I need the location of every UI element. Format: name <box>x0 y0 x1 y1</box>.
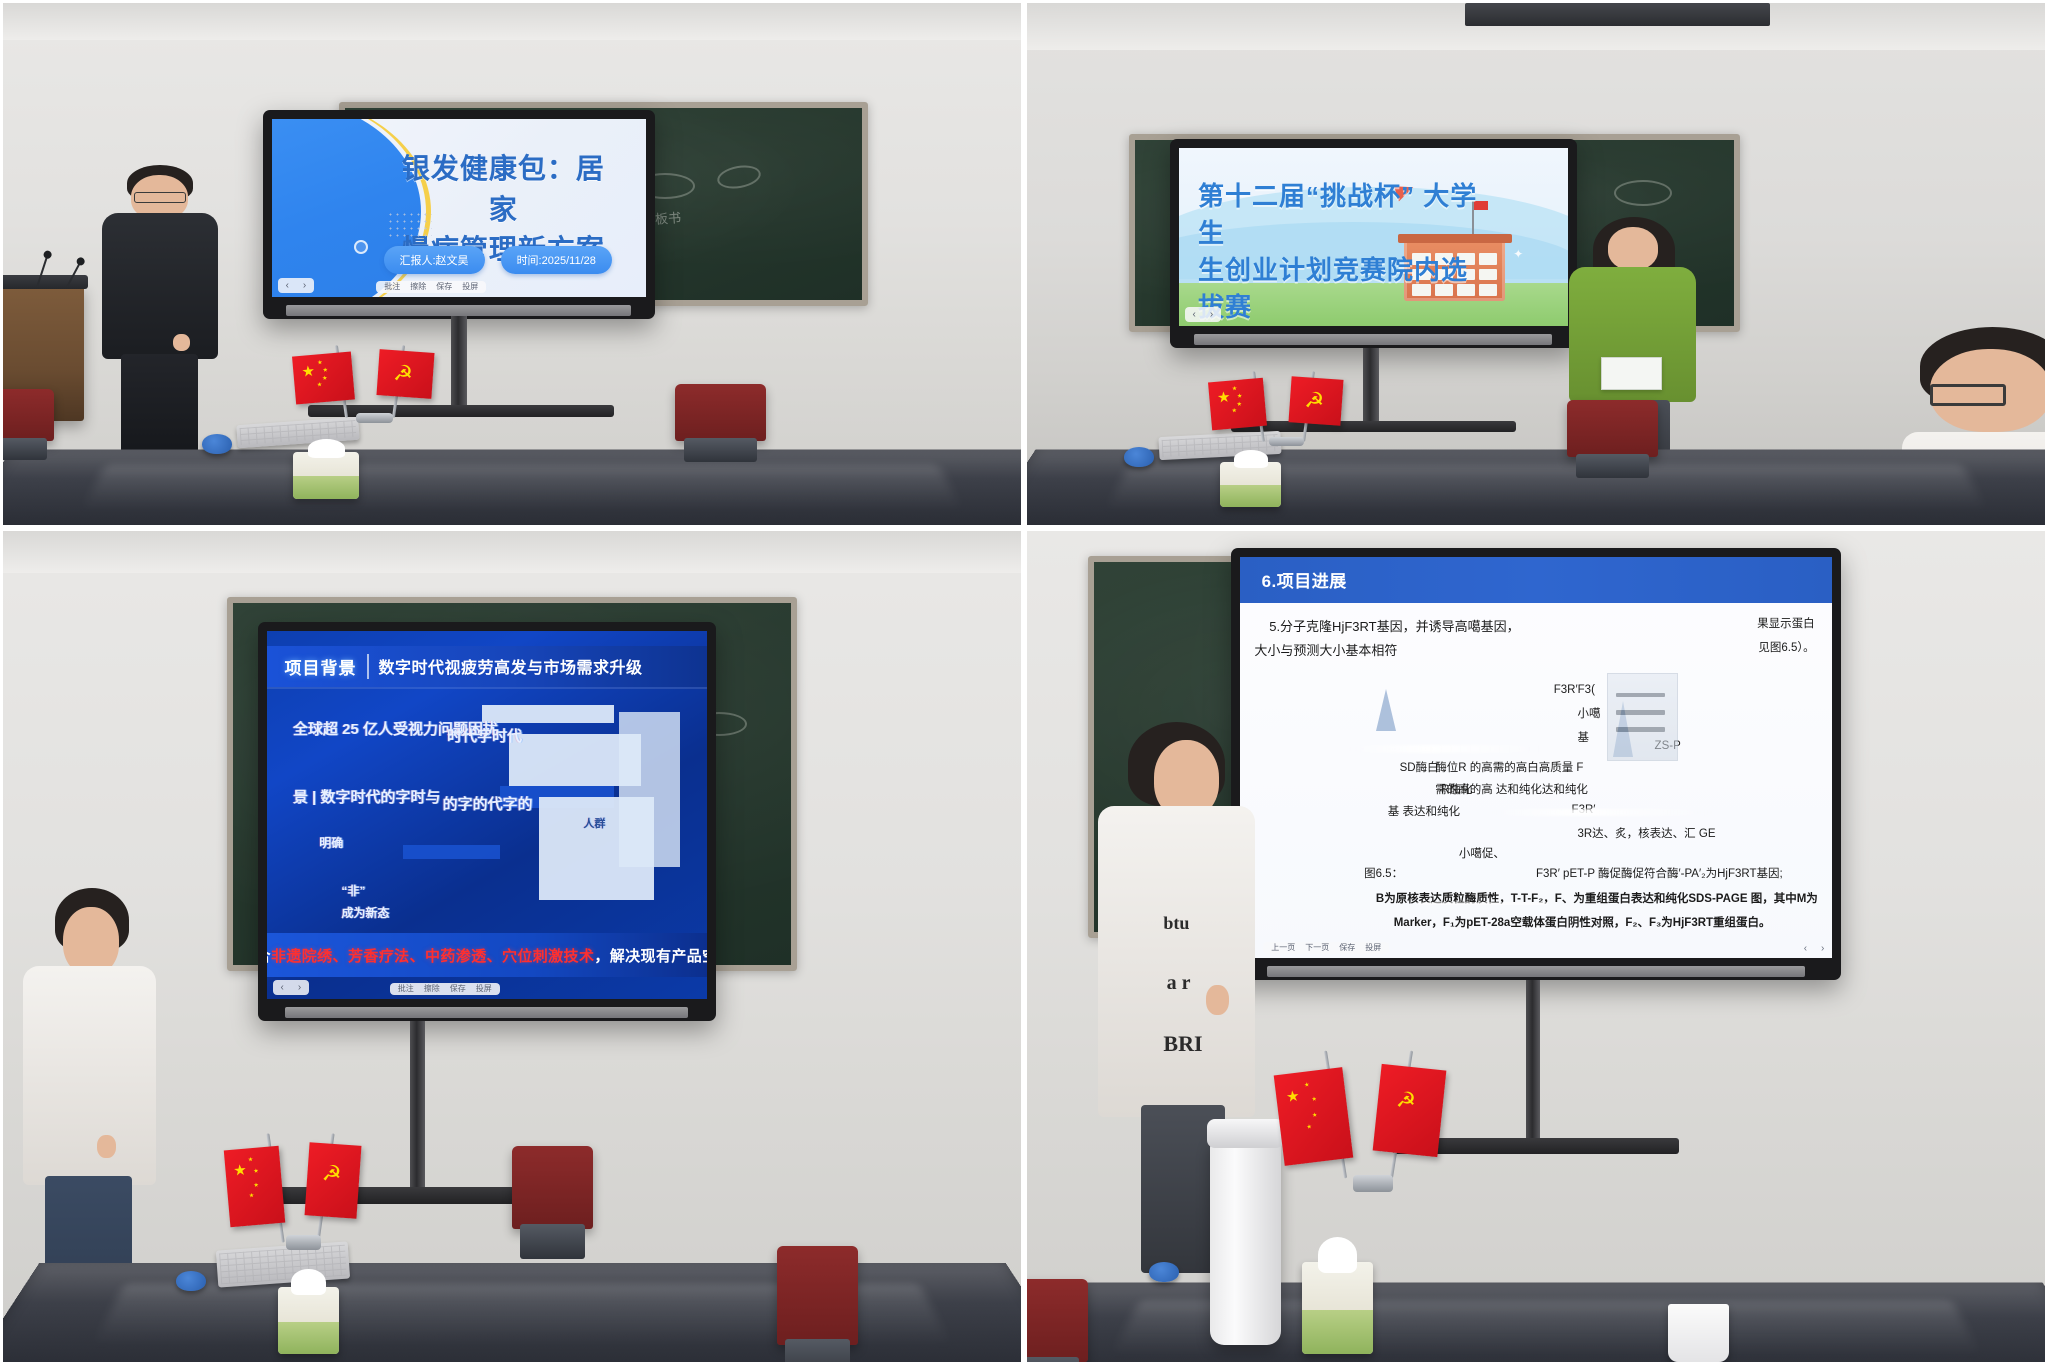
star-small-1-icon: ★ <box>1232 386 1238 392</box>
star-large-icon: ★ <box>233 1162 248 1178</box>
slide-circle-accent <box>354 240 368 254</box>
desk-flags-1: ★ ★ ★ ★ ★ ☭ <box>283 342 466 457</box>
conference-table-4 <box>1024 1282 2048 1365</box>
slide-4-fragment-sd: SD酶白 <box>1400 759 1439 777</box>
slide-3-divider <box>367 654 369 679</box>
interactive-whiteboard-2[interactable]: ✦ ✦ 第十二届“挑战杯” 大学生 生创业计划竞赛院内选拔赛 <box>1170 139 1577 348</box>
star-small-2-icon: ★ <box>1237 393 1243 399</box>
slide-4-float-right-1: 果显示蛋白 <box>1757 615 1815 633</box>
flag-national-2: ★ ★ ★ ★ ★ <box>1208 378 1267 431</box>
mouse-1[interactable] <box>202 434 232 454</box>
slide-3-topbar: 项目背景 数字时代视疲劳高发与市场需求升级 <box>267 646 707 686</box>
slide-4-caption-line-2: Marker，F₁为pET-28a空载体蛋白阴性对照，F₂、F₃为HjF3RT重… <box>1394 914 1821 932</box>
slide-4-paragraph-2: 大小与预测大小基本相符 <box>1254 641 1622 662</box>
slide-3-glitch-line-2b: 的字的代字的 <box>443 793 533 814</box>
eraser-tool-icon[interactable]: 擦除 <box>424 985 440 993</box>
hand-holding-clicker-3 <box>97 1135 116 1158</box>
star-small-3-icon: ★ <box>253 1183 259 1189</box>
slide-challenge-cup: ✦ ✦ 第十二届“挑战杯” 大学生 生创业计划竞赛院内选拔赛 <box>1179 148 1568 326</box>
tissue-box-band-4 <box>1302 1310 1373 1354</box>
prev-page-icon[interactable]: ‹ <box>1804 943 1807 954</box>
prev-page-icon[interactable]: ‹ <box>1193 309 1196 320</box>
whiteboard-stand-pole-4 <box>1526 980 1540 1146</box>
mouse-3[interactable] <box>176 1271 206 1291</box>
cast-tool-icon[interactable]: 投屏 <box>462 283 478 291</box>
glitch-tear-6 <box>619 712 681 867</box>
slide-silver-health: 银发健康包：居家 慢病管理新方案 汇报人:赵文昊 时间:2025/11/28 <box>272 119 646 297</box>
star-small-2-icon: ★ <box>322 367 328 373</box>
ceiling-rail <box>1465 3 1770 26</box>
whiteboard-chin-2 <box>1194 334 1552 345</box>
bottom-suffix: ，解决现有产品空白 <box>594 948 706 965</box>
flag-national-4: ★ ★ ★ ★ ★ <box>1274 1067 1354 1166</box>
slide-3-glitch-line-4: “非” <box>341 882 365 899</box>
pen-tool-icon[interactable]: 批注 <box>384 283 400 291</box>
mouse-2[interactable] <box>1124 447 1154 467</box>
star-small-2-icon: ★ <box>1312 1096 1318 1103</box>
slide-3-headline: 数字时代视疲劳高发与市场需求升级 <box>379 654 643 678</box>
desk-flags-2: ★ ★ ★ ★ ★ ☭ <box>1200 368 1373 483</box>
screen-page-arrows-4[interactable]: ‹ › <box>1804 943 1825 954</box>
conference-table-3 <box>0 1263 1024 1365</box>
star-small-1-icon: ★ <box>1304 1082 1310 1089</box>
star-small-1-icon: ★ <box>248 1157 254 1163</box>
head-2 <box>1608 227 1658 270</box>
slide-4-fragment-f3r: F3R′F3( <box>1554 681 1595 699</box>
slide-4-fragment-line-5: 3R达、炙，核表达、汇 GE <box>1577 825 1715 843</box>
podium-top <box>0 275 88 289</box>
slide-4-fragment-line-6: 小噶促、 <box>1459 845 1505 863</box>
star-small-2-icon: ★ <box>253 1169 259 1175</box>
ceiling-strip-3 <box>3 531 1021 573</box>
save-tool-icon[interactable]: 保存 <box>450 985 466 993</box>
glasses-icon <box>134 192 185 203</box>
ceiling-strip <box>3 3 1021 40</box>
chair-right-1 <box>675 384 767 441</box>
whiteboard-chin-3 <box>285 1007 688 1018</box>
next-page-label[interactable]: 下一页 <box>1305 944 1329 952</box>
star-small-4-icon: ★ <box>249 1192 255 1198</box>
prev-page-label[interactable]: 上一页 <box>1271 944 1295 952</box>
sparkle-1-icon: ✦ <box>1513 247 1523 261</box>
photo-panel-bottom-right: 6.项目进展 5.分子克隆HjF3RT基因，并诱导高噶基因， 大小与预测大小基本… <box>1024 528 2048 1365</box>
sweater-text-1: btu <box>1163 914 1189 932</box>
interactive-whiteboard-1[interactable]: 银发健康包：居家 慢病管理新方案 汇报人:赵文昊 时间:2025/11/28 ‹… <box>263 110 655 319</box>
whiteboard-stand-pole-3 <box>410 1021 425 1196</box>
chair-left-4 <box>1024 1279 1088 1362</box>
star-small-3-icon: ★ <box>1237 402 1243 408</box>
slide-4-fragment-line-3: 基 表达和纯化 <box>1388 803 1460 821</box>
paper-cup <box>1668 1304 1729 1362</box>
chair-right-3 <box>512 1146 593 1229</box>
flag-party-4: ☭ <box>1373 1064 1447 1158</box>
next-page-icon[interactable]: › <box>303 280 306 291</box>
tissue-box-band-3 <box>278 1322 339 1354</box>
hammer-sickle-icon: ☭ <box>1304 389 1325 412</box>
star-small-1-icon: ★ <box>317 360 323 366</box>
flag-party-2: ☭ <box>1288 376 1343 425</box>
date-pill: 时间:2025/11/28 <box>501 246 612 274</box>
pen-tool-icon[interactable]: 批注 <box>398 985 414 993</box>
slide-4-fragment-line-2: 需的高的高 达和纯化达和纯化 <box>1435 781 1814 799</box>
star-small-3-icon: ★ <box>1312 1113 1318 1120</box>
slide-screen-1[interactable]: 银发健康包：居家 慢病管理新方案 汇报人:赵文昊 时间:2025/11/28 ‹… <box>272 119 646 297</box>
flag-national: ★ ★ ★ ★ ★ <box>292 351 355 404</box>
screen-glitch-scratch <box>1417 902 1547 905</box>
chromatogram-peak-1 <box>1376 689 1396 731</box>
torso-white-hoodie <box>23 966 155 1185</box>
slide-3-glitch-line-1b: 时代字时代 <box>447 725 522 746</box>
slide-title-2: 第十二届“挑战杯” 大学生 生创业计划竞赛院内选拔赛 <box>1198 178 1478 326</box>
star-large-icon: ★ <box>1286 1089 1301 1106</box>
slide-meta-pills: 汇报人:赵文昊 时间:2025/11/28 <box>384 246 612 274</box>
next-page-icon[interactable]: › <box>1821 943 1824 954</box>
hand-gesture-4 <box>1206 985 1229 1015</box>
sweater-text-3: BRI <box>1163 1033 1202 1055</box>
slide-3-bottom-line: 融合非遗院绣、芳香疗法、中药渗透、穴位刺激技术，解决现有产品空白 <box>267 945 707 966</box>
tissue-box-4 <box>1302 1262 1373 1353</box>
hand-holding-clicker <box>173 334 190 351</box>
slide-dot-pattern <box>387 211 432 239</box>
slide-title-2-line-1: 第十二届“挑战杯” 大学生 <box>1198 178 1478 252</box>
slide-screen-3[interactable]: 项目背景 数字时代视疲劳高发与市场需求升级 全球超 25 亿人受视力问题困扰 时… <box>267 631 707 999</box>
glitch-tear-5 <box>403 845 500 860</box>
slide-3-bottombar: 融合非遗院绣、芳香疗法、中药渗透、穴位刺激技术，解决现有产品空白 <box>267 933 707 977</box>
conference-table-2 <box>1024 450 2048 528</box>
slide-project-progress: 6.项目进展 5.分子克隆HjF3RT基因，并诱导高噶基因， 大小与预测大小基本… <box>1240 557 1833 958</box>
screen-glitch-smear-2 <box>1489 809 1714 816</box>
slide-4-fragment-small: 小噶 <box>1577 705 1600 723</box>
slide-4-fragment-base: 基 <box>1577 729 1589 747</box>
sweater-text-2: a r <box>1167 973 1191 993</box>
glitch-tear-1 <box>482 705 614 723</box>
slide-screen-4[interactable]: 6.项目进展 5.分子克隆HjF3RT基因，并诱导高噶基因， 大小与预测大小基本… <box>1240 557 1833 958</box>
save-tool-icon[interactable]: 保存 <box>1339 944 1355 952</box>
speech-card <box>1601 357 1662 390</box>
interactive-whiteboard-3[interactable]: 项目背景 数字时代视疲劳高发与市场需求升级 全球超 25 亿人受视力问题困扰 时… <box>258 622 716 1021</box>
slide-4-caption-prefix: 图6.5： <box>1364 865 1403 883</box>
star-small-4-icon: ★ <box>1232 408 1238 414</box>
star-large-icon: ★ <box>301 363 316 379</box>
flag-party: ☭ <box>377 350 435 400</box>
slide-3-glitch-line-2: 景 | 数字时代的字时与 <box>293 786 441 807</box>
star-small-4-icon: ★ <box>317 382 323 388</box>
slide-3-tag: 项目背景 <box>267 654 365 679</box>
next-page-icon[interactable]: › <box>298 982 301 993</box>
slide-4-fragment-line-1: 酶位R 的高需的高白高质量 F <box>1435 759 1814 777</box>
audience-glasses-icon <box>1930 384 2006 406</box>
interactive-whiteboard-4[interactable]: 6.项目进展 5.分子克隆HjF3RT基因，并诱导高噶基因， 大小与预测大小基本… <box>1231 548 1842 980</box>
slide-screen-2[interactable]: ✦ ✦ 第十二届“挑战杯” 大学生 生创业计划竞赛院内选拔赛 <box>1179 148 1568 326</box>
whiteboard-chin <box>286 305 631 316</box>
slide-project-background: 项目背景 数字时代视疲劳高发与市场需求升级 全球超 25 亿人受视力问题困扰 时… <box>267 631 707 999</box>
chair-foreground-3 <box>777 1246 858 1346</box>
torso-white-sweater <box>1098 806 1254 1117</box>
prev-page-icon[interactable]: ‹ <box>281 982 284 993</box>
slide-4-caption-line-1: B为原核表达质粒酶质性，T-T-F₂，F、为重组蛋白表达和纯化SDS-PAGE … <box>1376 890 1827 908</box>
torso-jacket <box>102 213 219 360</box>
star-large-icon: ★ <box>1217 389 1232 405</box>
screen-page-arrows-1[interactable]: ‹ › <box>278 278 315 293</box>
hammer-sickle-icon: ☭ <box>393 363 414 386</box>
slide-3-glitch-line-6: 人群 <box>583 815 605 831</box>
whiteboard-chin-4 <box>1267 966 1805 977</box>
flag-stand-base-3 <box>286 1235 321 1250</box>
flag-national-3: ★ ★ ★ ★ ★ <box>224 1145 286 1226</box>
hammer-sickle-icon: ☭ <box>321 1162 342 1185</box>
save-tool-icon[interactable]: 保存 <box>436 283 452 291</box>
flag-party-3: ☭ <box>304 1142 361 1219</box>
mouse-4[interactable] <box>1149 1262 1179 1282</box>
desk-flags-3: ★ ★ ★ ★ ★ ☭ <box>217 1129 390 1312</box>
slide-4-paragraph-1: 5.分子克隆HjF3RT基因，并诱导高噶基因， <box>1269 617 1637 638</box>
legs <box>121 354 198 455</box>
photo-panel-bottom-left: 项目背景 数字时代视疲劳高发与市场需求升级 全球超 25 亿人受视力问题困扰 时… <box>0 528 1024 1365</box>
flag-stand-base-4 <box>1353 1175 1394 1192</box>
screen-page-arrows-2[interactable]: ‹ › <box>1185 307 1222 322</box>
slide-3-glitch-line-5: 成为新态 <box>341 904 389 921</box>
photo-collage: 板书 银发健康包：居家 慢病管理新方案 汇报人:赵文昊 时间:2025/11/2… <box>0 0 2048 1365</box>
eraser-tool-icon[interactable]: 擦除 <box>410 283 426 291</box>
slide-4-banner-title: 6.项目进展 <box>1240 567 1347 592</box>
screen-toolbar-4[interactable]: 上一页 下一页 保存 投屏 <box>1263 942 1389 954</box>
slide-title-2-line-2: 生创业计划竞赛院内选拔赛 <box>1198 252 1478 326</box>
prev-page-icon[interactable]: ‹ <box>286 280 289 291</box>
slide-4-float-right-2: 见图6.5）。 <box>1758 639 1814 657</box>
bottom-red-text: 非遗院绣、芳香疗法、中药渗透、穴位刺激技术 <box>271 948 594 965</box>
flag-stand-base <box>356 413 393 422</box>
chalkboard-writing: 板书 <box>655 207 682 228</box>
gel-figure <box>1607 673 1678 761</box>
screen-toolbar-3[interactable]: 批注 擦除 保存 投屏 <box>390 983 500 995</box>
flag-stand-base-2 <box>1269 437 1304 446</box>
screen-toolbar-1[interactable]: 批注 擦除 保存 投屏 <box>376 281 486 293</box>
hammer-sickle-icon: ☭ <box>1395 1088 1417 1112</box>
next-page-icon[interactable]: › <box>1210 309 1213 320</box>
star-small-3-icon: ★ <box>322 376 328 382</box>
chair-right-2 <box>1567 400 1659 457</box>
screen-page-arrows-3[interactable]: ‹ › <box>273 980 310 995</box>
cast-tool-icon[interactable]: 投屏 <box>1365 944 1381 952</box>
table-reflection <box>82 465 962 510</box>
presenter-pill: 汇报人:赵文昊 <box>384 246 485 274</box>
head-3 <box>63 907 119 976</box>
screen-glitch-smear-1 <box>1346 745 1548 753</box>
star-small-4-icon: ★ <box>1307 1124 1313 1131</box>
presenter-person-1 <box>84 165 227 447</box>
slide-3-glitch-line-3: 明确 <box>319 834 343 851</box>
tissue-box-band <box>293 476 359 499</box>
tissue-box-band-2 <box>1220 485 1281 506</box>
cast-tool-icon[interactable]: 投屏 <box>476 985 492 993</box>
tissue-box-1 <box>293 452 359 499</box>
photo-panel-top-left: 板书 银发健康包：居家 慢病管理新方案 汇报人:赵文昊 时间:2025/11/2… <box>0 0 1024 528</box>
slide-4-fragment-line-7: F3R′ pET-P 酶促酶促符合酶′-PA′₂为HjF3RT基因; <box>1536 865 1783 883</box>
chair-left-1 <box>0 389 54 441</box>
slide-4-banner: 6.项目进展 <box>1240 557 1833 603</box>
photo-panel-top-right: 板书 ✦ ✦ <box>1024 0 2048 528</box>
desk-flags-4: ★ ★ ★ ★ ★ ☭ <box>1271 1046 1475 1254</box>
conference-table-1 <box>0 450 1024 528</box>
